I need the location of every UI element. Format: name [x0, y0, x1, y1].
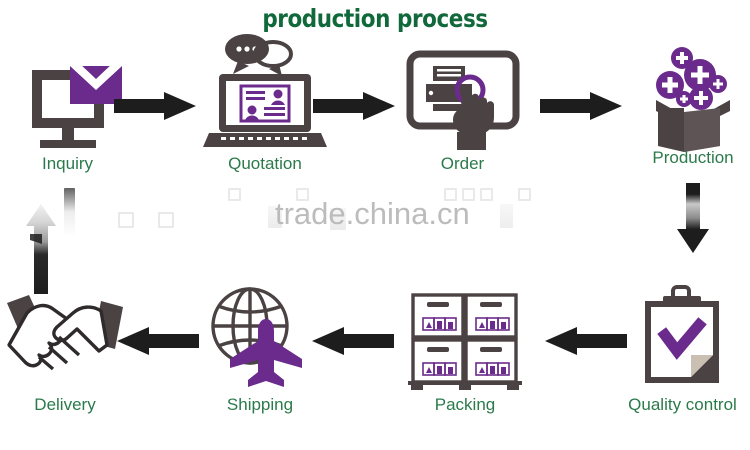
connector-shipping-to-delivery [117, 327, 199, 355]
connector-delivery-to-end [24, 190, 58, 294]
node-label-quotation: Quotation [205, 154, 325, 174]
connector-production-to-quality-control [676, 183, 710, 255]
globe-airplane-icon [200, 283, 320, 388]
connector-inquiry-to-quotation [114, 92, 196, 120]
screen-printer-hand-tap-icon [400, 48, 525, 158]
node-label-quality-control: Quality control [615, 395, 750, 415]
node-production[interactable]: Production [638, 46, 748, 176]
node-packing[interactable]: Packing [400, 285, 530, 415]
node-label-delivery: Delivery [5, 395, 125, 415]
connector-quotation-to-order [313, 92, 395, 120]
pallet-boxes-icon [400, 285, 530, 390]
production-process-diagram: production process Inquiry [0, 0, 750, 450]
node-label-inquiry: Inquiry [10, 154, 125, 174]
node-delivery[interactable]: Delivery [5, 285, 125, 415]
node-label-order: Order [400, 154, 525, 174]
node-label-production: Production [638, 148, 748, 168]
node-order[interactable]: Order [400, 48, 525, 178]
handshake-icon [5, 285, 125, 385]
watermark-text: trade.china.cn [275, 196, 470, 232]
laptop-chat-document-icon [205, 32, 325, 152]
clipboard-check-icon [637, 285, 732, 390]
node-label-shipping: Shipping [200, 395, 320, 415]
open-box-plus-bubbles-icon [638, 46, 748, 156]
node-quality-control[interactable]: Quality control [615, 285, 750, 417]
connector-packing-to-shipping [312, 327, 394, 355]
monitor-envelope-icon [10, 58, 125, 153]
page-title: production process [53, 4, 698, 33]
node-quotation[interactable]: Quotation [205, 32, 325, 177]
connector-order-to-production [540, 92, 622, 120]
node-inquiry[interactable]: Inquiry [10, 58, 125, 173]
node-label-packing: Packing [400, 395, 530, 415]
node-shipping[interactable]: Shipping [200, 283, 320, 415]
